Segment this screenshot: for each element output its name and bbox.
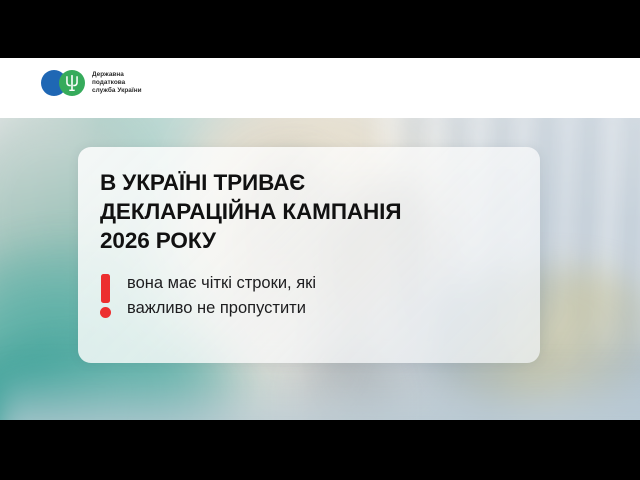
background-blur-haze bbox=[0, 368, 640, 420]
logo-text: Державна податкова служба України bbox=[92, 71, 142, 95]
subtitle: вона має чіткі строки, які важливо не пр… bbox=[127, 271, 316, 321]
video-frame: В УКРАЇНІ ТРИВАЄ ДЕКЛАРАЦІЙНА КАМПАНІЯ 2… bbox=[0, 0, 640, 480]
subtitle-row: вона має чіткі строки, які важливо не пр… bbox=[100, 271, 530, 321]
trident-icon bbox=[65, 74, 79, 92]
letterbox-bottom bbox=[0, 420, 640, 480]
exclamation-dot bbox=[100, 307, 111, 318]
announcement-text-block: В УКРАЇНІ ТРИВАЄ ДЕКЛАРАЦІЙНА КАМПАНІЯ 2… bbox=[100, 168, 530, 321]
exclamation-mark-icon bbox=[100, 274, 111, 320]
letterbox-top bbox=[0, 0, 640, 58]
header-band: Державна податкова служба України bbox=[0, 58, 640, 118]
headline: В УКРАЇНІ ТРИВАЄ ДЕКЛАРАЦІЙНА КАМПАНІЯ 2… bbox=[100, 168, 530, 255]
tax-service-logo: Державна податкова служба України bbox=[41, 70, 142, 96]
logo-marks bbox=[41, 70, 85, 96]
exclamation-bar bbox=[101, 274, 110, 303]
